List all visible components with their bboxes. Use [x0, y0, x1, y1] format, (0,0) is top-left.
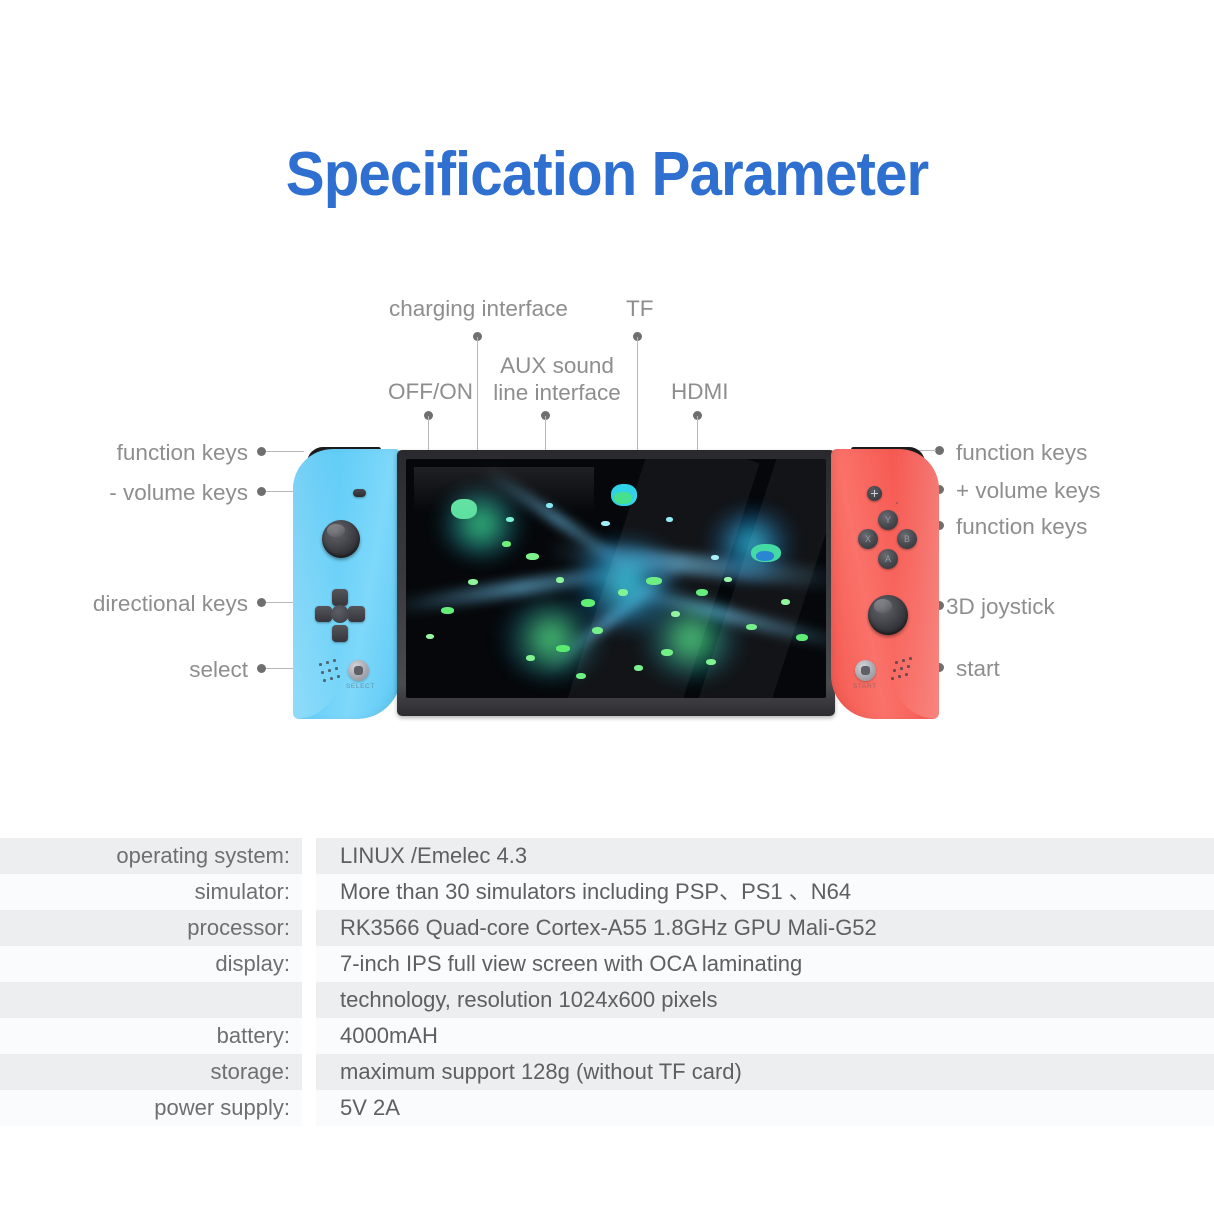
face-button-x[interactable]: X — [858, 529, 878, 549]
dpad-right[interactable] — [348, 606, 365, 622]
dpad-center — [331, 605, 349, 623]
callout-label-directional-keys: directional keys — [0, 591, 248, 618]
aux-line-1: AUX sound — [484, 353, 630, 380]
left-grip: SELECT — [293, 449, 401, 719]
face-button-a[interactable]: A — [878, 549, 898, 569]
leader-dot-select-key — [257, 664, 266, 673]
spec-value: 7-inch IPS full view screen with OCA lam… — [340, 946, 802, 982]
callout-label-start-key: start — [956, 656, 1000, 683]
callout-label-function-keys-left: function keys — [0, 440, 248, 467]
spec-key: storage: — [0, 1054, 290, 1090]
face-button-y[interactable]: Y — [878, 510, 898, 530]
device-screen — [406, 459, 826, 698]
table-row: processor: RK3566 Quad-core Cortex-A55 1… — [0, 910, 1214, 946]
spec-value: 4000mAH — [340, 1018, 438, 1054]
table-row: battery: 4000mAH — [0, 1018, 1214, 1054]
start-button-caption: START — [853, 683, 877, 690]
handheld-console: SELECT — [293, 449, 939, 719]
face-button-b[interactable]: B — [897, 529, 917, 549]
spec-key — [0, 982, 290, 1018]
leader-dot-directional-keys — [257, 598, 266, 607]
row-value-band — [316, 1090, 1214, 1126]
table-row: power supply: 5V 2A — [0, 1090, 1214, 1126]
indicator-led — [896, 502, 898, 504]
volume-down-button[interactable] — [353, 489, 366, 497]
aux-line-2: line interface — [484, 380, 630, 407]
select-button-caption: SELECT — [346, 683, 375, 690]
table-row: operating system: LINUX /Emelec 4.3 — [0, 838, 1214, 874]
callout-label-select-key: select — [0, 657, 248, 684]
callout-label-volume-up-keys: + volume keys — [956, 478, 1100, 505]
spec-value: More than 30 simulators including PSP、PS… — [340, 874, 851, 910]
specification-page: Specification Parameter charging interfa… — [0, 0, 1214, 1214]
callout-label-hdmi: HDMI — [671, 379, 729, 406]
right-grip: Y X B A START — [831, 449, 939, 719]
leader-line-tf — [637, 337, 638, 450]
table-row: technology, resolution 1024x600 pixels — [0, 982, 1214, 1018]
callout-label-off-on: OFF/ON — [388, 379, 473, 406]
spec-value: technology, resolution 1024x600 pixels — [340, 982, 718, 1018]
dpad-left[interactable] — [315, 606, 332, 622]
callout-label-charging-interface: charging interface — [389, 296, 568, 323]
spec-key: simulator: — [0, 874, 290, 910]
leader-dot-volume-down-keys — [257, 487, 266, 496]
callout-label-function-keys-right-mid: function keys — [956, 514, 1087, 541]
right-analog-stick[interactable] — [868, 595, 908, 635]
screen-bezel — [397, 450, 835, 716]
spec-value: 5V 2A — [340, 1090, 400, 1126]
leader-line-charging-interface — [477, 337, 478, 450]
spec-key: processor: — [0, 910, 290, 946]
select-button[interactable] — [348, 660, 369, 681]
spec-value: maximum support 128g (without TF card) — [340, 1054, 742, 1090]
start-button[interactable] — [855, 660, 876, 681]
dpad-up[interactable] — [332, 589, 348, 606]
callout-label-aux-sound-line-interface: AUX sound line interface — [484, 353, 630, 406]
left-analog-stick[interactable] — [322, 520, 360, 558]
table-row: storage: maximum support 128g (without T… — [0, 1054, 1214, 1090]
table-row: simulator: More than 30 simulators inclu… — [0, 874, 1214, 910]
product-callout-diagram: charging interface TF OFF/ON AUX sound l… — [0, 0, 1214, 830]
table-row: display: 7-inch IPS full view screen wit… — [0, 946, 1214, 982]
spec-key: display: — [0, 946, 290, 982]
spec-value: RK3566 Quad-core Cortex-A55 1.8GHz GPU M… — [340, 910, 877, 946]
specification-table: operating system: LINUX /Emelec 4.3 simu… — [0, 838, 1214, 1126]
leader-dot-function-keys-left — [257, 447, 266, 456]
dpad-down[interactable] — [332, 625, 348, 642]
row-value-band — [316, 1018, 1214, 1054]
callout-label-volume-down-keys: - volume keys — [0, 480, 248, 507]
right-grip-highlight — [893, 449, 939, 719]
leader-line-hdmi — [697, 416, 698, 450]
callout-label-function-keys-right-top: function keys — [956, 440, 1087, 467]
spec-key: battery: — [0, 1018, 290, 1054]
spec-key: operating system: — [0, 838, 290, 874]
spec-value: LINUX /Emelec 4.3 — [340, 838, 527, 874]
spec-key: power supply: — [0, 1090, 290, 1126]
callout-label-joystick-3d: 3D joystick — [946, 594, 1055, 621]
callout-label-tf: TF — [626, 296, 654, 323]
leader-line-aux — [545, 416, 546, 450]
volume-up-button[interactable] — [867, 486, 882, 501]
leader-line-off-on — [428, 416, 429, 450]
